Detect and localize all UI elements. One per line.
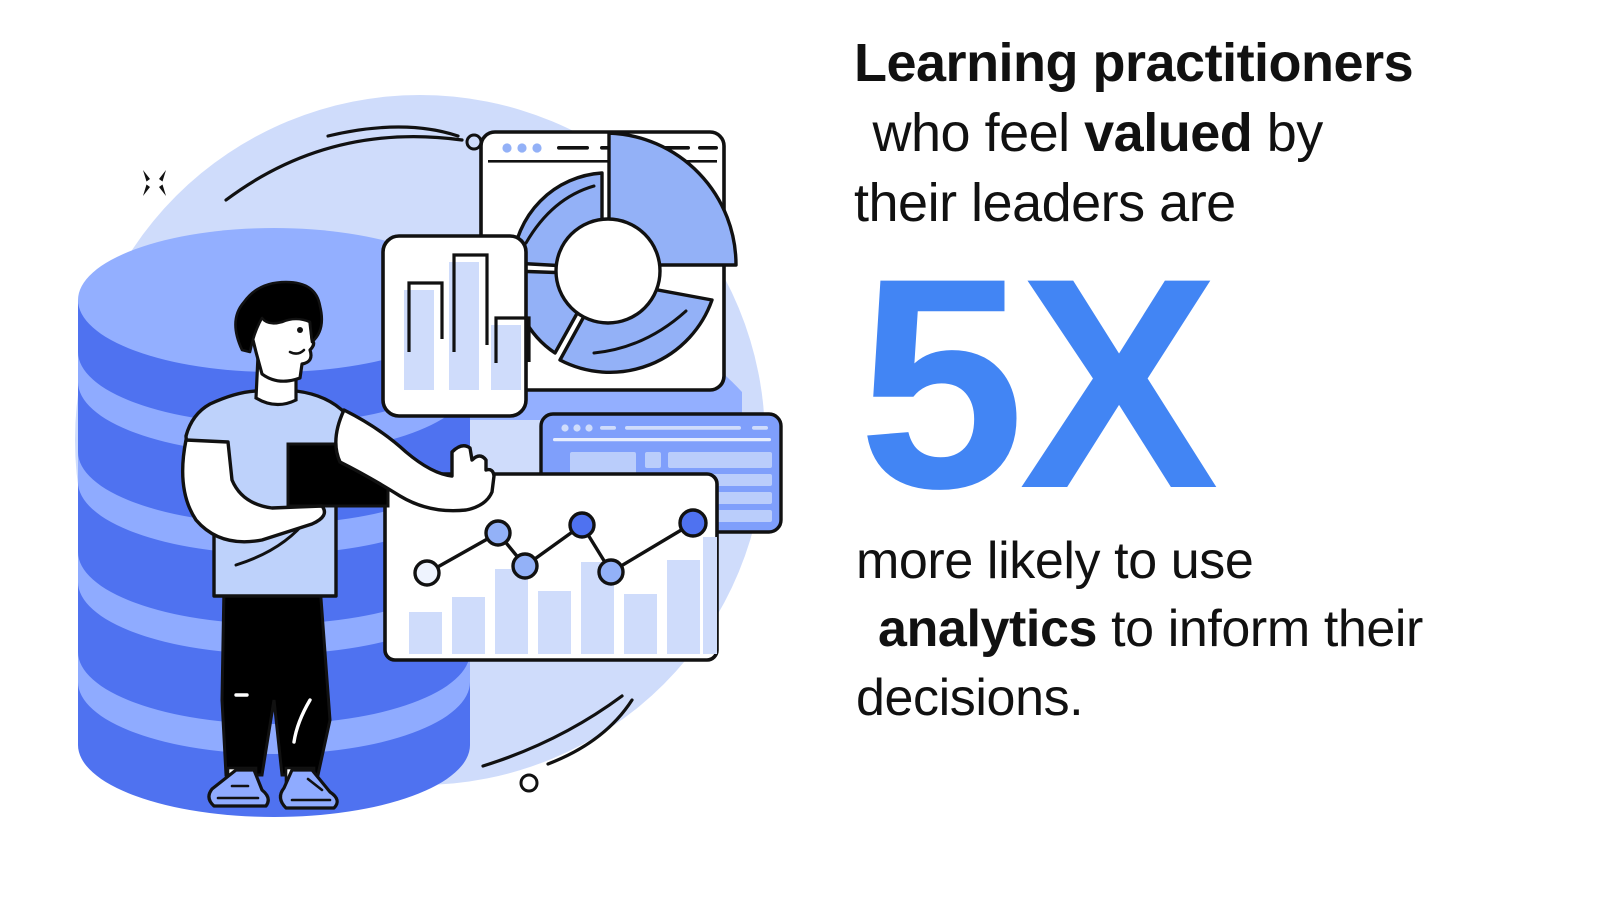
headline-line-1: Learning practitioners [840, 28, 1580, 98]
headline-line-2-post: by [1252, 103, 1323, 163]
headline-line-2: who feel valued by [840, 98, 1580, 168]
sparkle-icon [143, 170, 166, 196]
subline-line-3: decisions. [840, 664, 1580, 733]
subline: more likely to use analytics to inform t… [840, 527, 1580, 733]
bar-chart-tablet[interactable] [383, 236, 529, 416]
text-column: Learning practitioners who feel valued b… [820, 0, 1600, 900]
subline-analytics-bold: analytics [864, 600, 1097, 658]
face-details [297, 327, 303, 333]
stat-value: 5X [840, 245, 1580, 521]
subline-line-2: analytics to inform their [840, 595, 1580, 664]
headline: Learning practitioners who feel valued b… [840, 28, 1580, 239]
subline-line-1: more likely to use [840, 527, 1580, 596]
subline-line-2-post: to inform their [1097, 600, 1423, 658]
illustration-panel [0, 0, 820, 900]
infographic-root: Learning practitioners who feel valued b… [0, 0, 1600, 900]
headline-valued-bold: valued [1084, 103, 1252, 163]
headline-line-2-pre: who feel [858, 103, 1084, 163]
